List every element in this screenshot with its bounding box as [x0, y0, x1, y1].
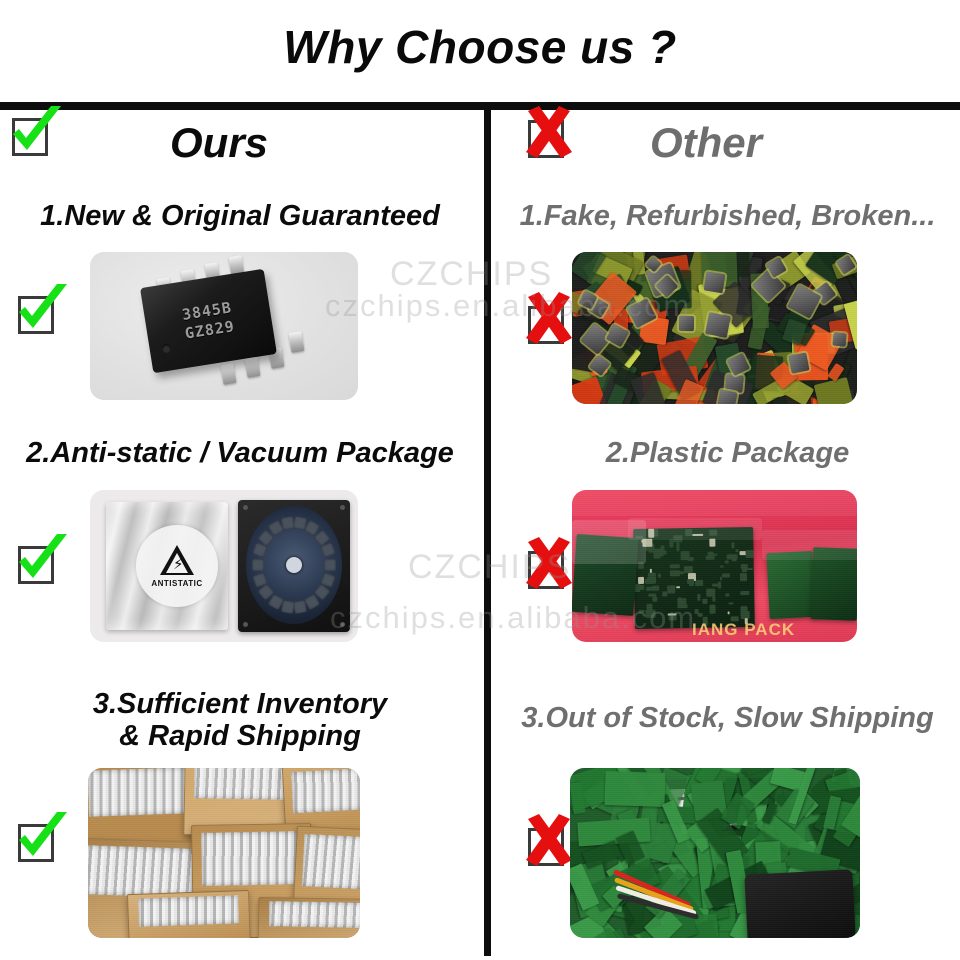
- circuit-board: [633, 527, 755, 629]
- row3-ours-caption: 3.Sufficient Inventory & Rapid Shipping: [10, 688, 470, 753]
- smd-component: [677, 604, 687, 609]
- cross-mark-icon: [524, 822, 570, 868]
- photo-scrap-chips: [572, 252, 857, 404]
- smd-component: [638, 577, 644, 583]
- row1-other-caption: 1.Fake, Refurbished, Broken...: [500, 200, 955, 232]
- smd-component: [740, 606, 747, 615]
- tray-screw: [340, 622, 345, 627]
- row3-other-caption: 3.Out of Stock, Slow Shipping: [495, 702, 960, 734]
- smd-component: [653, 553, 661, 559]
- tray-screw: [243, 622, 248, 627]
- plastic-bag-sheen: [572, 490, 857, 516]
- antistatic-bags-stack: [138, 895, 240, 927]
- smd-component: [707, 589, 715, 595]
- reel-hub: [286, 557, 302, 573]
- smd-component: [677, 543, 680, 551]
- component-reel: [246, 506, 342, 624]
- cardboard-box: [127, 890, 251, 938]
- smd-component: [742, 564, 747, 572]
- smd-component: [646, 610, 656, 618]
- smd-component: [687, 579, 694, 584]
- smd-component: [639, 609, 645, 612]
- chip-pin: [289, 331, 305, 353]
- chip-die: [725, 374, 743, 392]
- chip-pin: [245, 356, 261, 378]
- smd-component: [725, 594, 729, 596]
- smd-component: [745, 550, 753, 558]
- reel-pocket: [324, 559, 336, 571]
- chip-die: [705, 312, 730, 337]
- circuit-board: [766, 551, 815, 619]
- column-header-ours: Ours: [170, 112, 470, 174]
- check-mark-icon: [8, 112, 54, 158]
- smd-component: [710, 605, 716, 614]
- smd-component: [713, 583, 720, 586]
- smd-component: [658, 574, 662, 578]
- row3-ours-caption-line2: & Rapid Shipping: [10, 720, 470, 752]
- smd-component: [670, 565, 680, 569]
- check-mark-glyph: [7, 528, 71, 592]
- photo-antistatic-bag-and-reel: ⚡ ANTISTATIC: [90, 490, 358, 642]
- photo-ic-chip: 3845B GZ829: [90, 252, 358, 400]
- chip-die: [833, 332, 848, 347]
- tray-screw: [340, 505, 345, 510]
- antistatic-label-text: ANTISTATIC: [151, 579, 202, 588]
- row1-ours-caption: 1.New & Original Guaranteed: [10, 200, 470, 232]
- antistatic-bags-stack: [291, 768, 360, 813]
- check-mark-glyph: [7, 806, 71, 870]
- smd-component: [712, 596, 715, 602]
- reel-pocket: [293, 600, 307, 614]
- smd-component: [706, 555, 715, 559]
- reel-pocket: [320, 543, 335, 558]
- smd-component: [695, 580, 704, 585]
- antistatic-bags-stack: [269, 901, 360, 928]
- smd-component: [684, 566, 694, 573]
- photo-watermark-text: IANG PACK: [692, 620, 795, 640]
- smd-component: [702, 598, 707, 604]
- tray-screw: [243, 505, 248, 510]
- smd-component: [727, 611, 729, 614]
- row2-ours-caption: 2.Anti-static / Vacuum Package: [6, 437, 474, 469]
- smd-component: [740, 573, 747, 581]
- chip-die: [679, 316, 695, 332]
- plastic-bag-sheen: [628, 518, 762, 540]
- check-mark-icon: [14, 290, 60, 336]
- smd-component: [667, 585, 675, 594]
- antistatic-label: ⚡ ANTISTATIC: [136, 525, 218, 607]
- photo-plastic-bagged-pcbs: IANG PACK: [572, 490, 857, 642]
- check-mark-glyph: [7, 278, 71, 342]
- row3-ours-caption-line1: 3.Sufficient Inventory: [10, 688, 470, 720]
- check-mark-icon: [14, 540, 60, 586]
- reel-tray: [238, 500, 350, 632]
- smd-component: [647, 577, 656, 584]
- smd-component: [660, 551, 666, 555]
- reel-pocket: [252, 559, 264, 571]
- warning-triangle-icon: ⚡: [160, 545, 194, 575]
- smd-component: [680, 551, 689, 560]
- smd-component: [726, 554, 737, 559]
- black-component: [744, 869, 855, 938]
- smd-component: [678, 572, 684, 575]
- cross-mark-icon: [524, 114, 570, 160]
- cross-mark-icon: [524, 300, 570, 346]
- page-title: Why Choose us ?: [0, 24, 960, 70]
- smd-component: [647, 603, 653, 611]
- smd-component: [677, 598, 687, 604]
- cross-mark-glyph: [517, 102, 581, 166]
- column-header-other: Other: [650, 112, 950, 174]
- row2-other-caption: 2.Plastic Package: [500, 437, 955, 469]
- smd-component: [741, 591, 750, 595]
- smd-component: [634, 585, 644, 590]
- smd-component: [676, 586, 680, 588]
- chip-pin: [221, 363, 237, 385]
- smd-component: [697, 594, 701, 601]
- header-divider-horizontal: [0, 102, 960, 110]
- chip-die: [704, 271, 726, 293]
- smd-component: [707, 552, 713, 556]
- antistatic-bags-stack: [194, 768, 287, 800]
- reel-pocket: [281, 516, 295, 530]
- smd-component: [732, 542, 735, 548]
- smd-component: [728, 602, 733, 604]
- antistatic-bags-stack: [88, 768, 189, 817]
- lightning-bolt-icon: ⚡: [173, 557, 184, 572]
- antistatic-bags-stack: [202, 831, 302, 886]
- smd-component: [720, 566, 724, 568]
- column-divider-vertical: [484, 108, 491, 956]
- chip-die: [718, 389, 738, 404]
- antistatic-bags-stack: [302, 834, 360, 891]
- antistatic-bags-stack: [88, 845, 194, 898]
- cross-mark-icon: [524, 545, 570, 591]
- photo-boxes-inventory: [88, 768, 360, 938]
- smd-component: [722, 573, 730, 577]
- smd-component: [652, 586, 659, 591]
- smd-component: [697, 613, 702, 617]
- chip-pin1-dot: [162, 344, 171, 353]
- check-mark-icon: [14, 818, 60, 864]
- cardboard-box: [258, 897, 360, 938]
- smd-component: [652, 597, 658, 602]
- comparison-infographic: Why Choose us ? Ours Other 1.New & Origi…: [0, 0, 960, 960]
- check-mark-glyph: [1, 100, 65, 164]
- smd-component: [735, 550, 738, 553]
- smd-component: [724, 560, 729, 563]
- plastic-bag-sheen: [762, 530, 857, 560]
- pcb-fragment: [605, 771, 667, 807]
- photo-green-pcb-scrap: [570, 768, 860, 938]
